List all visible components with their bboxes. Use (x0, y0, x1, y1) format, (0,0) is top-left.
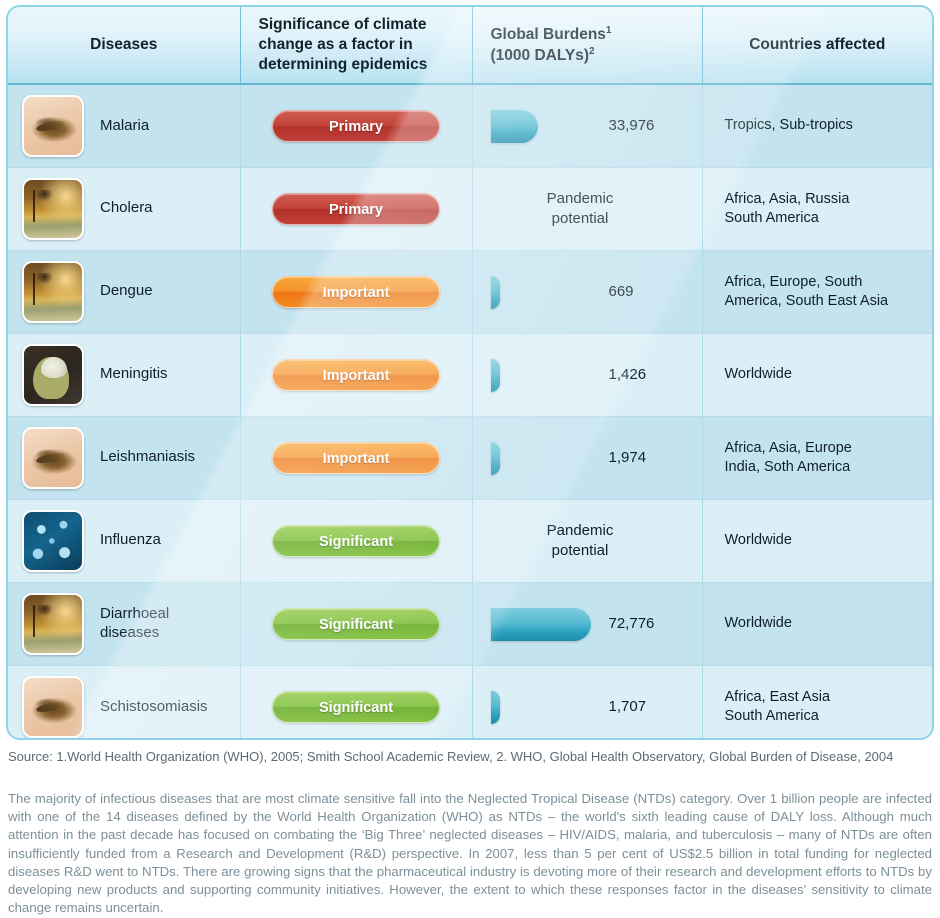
table-body: MalariaPrimary33,976Tropics, Sub-tropics… (8, 84, 932, 740)
significance-cell: Important (240, 416, 472, 499)
disease-matrix-table: Diseases Significance of climate change … (6, 5, 934, 740)
burden-bar-group: 1,707 (491, 666, 692, 741)
burden-value: 1,426 (609, 366, 647, 383)
significance-cell: Significant (240, 582, 472, 665)
burden-bar (491, 109, 538, 143)
burden-value: 669 (609, 283, 634, 300)
disease-cell: Schistosomiasis (8, 665, 240, 740)
significance-badge[interactable]: Important (272, 442, 440, 474)
burden-bar-group: 1,426 (491, 334, 692, 416)
burden-bar-group: 1,974 (491, 417, 692, 499)
infographic-page: Diseases Significance of climate change … (0, 0, 940, 903)
countries-cell: Worldwide (702, 499, 932, 582)
disease-name: Schistosomiasis (100, 698, 208, 716)
countries-cell: Africa, Asia, RussiaSouth America (702, 167, 932, 250)
burden-cell: 669 (472, 250, 702, 333)
footnote-marker-2: 2 (589, 46, 595, 57)
drought-landscape-image (22, 261, 84, 323)
significance-cell: Important (240, 333, 472, 416)
mosquito-image (22, 95, 84, 157)
significance-badge[interactable]: Significant (272, 691, 440, 723)
disease-cell: Dengue (8, 250, 240, 333)
burden-cell: Pandemicpotential (472, 499, 702, 582)
matrix-table: Diseases Significance of climate change … (8, 7, 932, 740)
burden-bar (491, 441, 500, 475)
table-row: Diarrhoeal diseasesSignificant72,776Worl… (8, 582, 932, 665)
burden-cell: Pandemicpotential (472, 167, 702, 250)
brain-illustration-image (22, 344, 84, 406)
countries-text: Africa, Asia, RussiaSouth America (725, 190, 923, 228)
disease-cell: Diarrhoeal diseases (8, 582, 240, 665)
body-paragraph: The majority of infectious diseases that… (8, 790, 932, 918)
countries-text: Worldwide (725, 531, 923, 550)
drought-landscape-image (22, 178, 84, 240)
countries-text: Africa, Europe, SouthAmerica, South East… (725, 273, 923, 311)
disease-name: Dengue (100, 282, 153, 300)
countries-cell: Africa, Asia, EuropeIndia, Soth America (702, 416, 932, 499)
header-row: Diseases Significance of climate change … (8, 7, 932, 84)
footnote-marker-1: 1 (606, 25, 612, 36)
column-header-diseases: Diseases (8, 7, 240, 84)
sandfly-image (22, 427, 84, 489)
significance-cell: Significant (240, 499, 472, 582)
table-row: DengueImportant669Africa, Europe, SouthA… (8, 250, 932, 333)
countries-cell: Worldwide (702, 582, 932, 665)
table-row: InfluenzaSignificantPandemicpotentialWor… (8, 499, 932, 582)
burden-bar (491, 275, 500, 309)
significance-cell: Important (240, 250, 472, 333)
burden-cell: 33,976 (472, 84, 702, 167)
countries-cell: Tropics, Sub-tropics (702, 84, 932, 167)
source-note: Source: 1.World Health Organization (WHO… (8, 748, 932, 765)
burden-cell: 1,974 (472, 416, 702, 499)
disease-name: Cholera (100, 199, 153, 217)
virus-micrograph-image (22, 510, 84, 572)
column-header-significance-label: Significance of climate change as a fact… (259, 16, 428, 73)
disease-cell: Malaria (8, 84, 240, 167)
burden-bar-group: 669 (491, 251, 692, 333)
burden-value: 72,776 (609, 615, 655, 632)
disease-cell: Meningitis (8, 333, 240, 416)
drought-landscape-image (22, 593, 84, 655)
disease-cell: Leishmaniasis (8, 416, 240, 499)
countries-text: Africa, East AsiaSouth America (725, 688, 923, 726)
table-row: MalariaPrimary33,976Tropics, Sub-tropics (8, 84, 932, 167)
burden-cell: 72,776 (472, 582, 702, 665)
burden-value: 33,976 (609, 117, 655, 134)
burden-bar-group: 33,976 (491, 85, 692, 167)
burden-bar-group: 72,776 (491, 583, 692, 665)
mosquito-image (22, 676, 84, 738)
countries-cell: Africa, Europe, SouthAmerica, South East… (702, 250, 932, 333)
table-row: CholeraPrimaryPandemicpotentialAfrica, A… (8, 167, 932, 250)
countries-cell: Africa, East AsiaSouth America (702, 665, 932, 740)
table-row: MeningitisImportant1,426Worldwide (8, 333, 932, 416)
burden-value: 1,707 (609, 698, 647, 715)
burden-bar (491, 690, 500, 724)
burden-note: Pandemicpotential (491, 521, 692, 559)
table-header: Diseases Significance of climate change … (8, 7, 932, 84)
burden-value: 1,974 (609, 449, 647, 466)
significance-badge[interactable]: Significant (272, 608, 440, 640)
significance-badge[interactable]: Important (272, 359, 440, 391)
column-header-countries-label: Countries affected (749, 36, 885, 53)
significance-cell: Primary (240, 167, 472, 250)
column-header-diseases-label: Diseases (90, 36, 157, 53)
countries-cell: Worldwide (702, 333, 932, 416)
significance-cell: Primary (240, 84, 472, 167)
disease-name: Influenza (100, 531, 161, 549)
countries-text: Worldwide (725, 365, 923, 384)
table-row: LeishmaniasisImportant1,974Africa, Asia,… (8, 416, 932, 499)
column-header-burden-line1: Global Burdens (491, 26, 606, 43)
significance-badge[interactable]: Primary (272, 110, 440, 142)
disease-cell: Cholera (8, 167, 240, 250)
significance-cell: Significant (240, 665, 472, 740)
disease-name: Malaria (100, 117, 149, 135)
column-header-burden-line2: (1000 DALYs) (491, 47, 590, 64)
disease-name: Leishmaniasis (100, 448, 195, 466)
significance-badge[interactable]: Primary (272, 193, 440, 225)
burden-note: Pandemicpotential (491, 189, 692, 227)
column-header-significance: Significance of climate change as a fact… (240, 7, 472, 84)
table-row: SchistosomiasisSignificant1,707Africa, E… (8, 665, 932, 740)
disease-name: Meningitis (100, 365, 168, 383)
burden-cell: 1,426 (472, 333, 702, 416)
countries-text: Tropics, Sub-tropics (725, 116, 923, 135)
countries-text: Africa, Asia, EuropeIndia, Soth America (725, 439, 923, 477)
disease-cell: Influenza (8, 499, 240, 582)
column-header-burden: Global Burdens1 (1000 DALYs)2 (472, 7, 702, 84)
burden-bar (491, 358, 500, 392)
burden-bar (491, 607, 591, 641)
burden-cell: 1,707 (472, 665, 702, 740)
column-header-countries: Countries affected (702, 7, 932, 84)
significance-badge[interactable]: Significant (272, 525, 440, 557)
significance-badge[interactable]: Important (272, 276, 440, 308)
countries-text: Worldwide (725, 614, 923, 633)
disease-name: Diarrhoeal diseases (100, 605, 230, 642)
